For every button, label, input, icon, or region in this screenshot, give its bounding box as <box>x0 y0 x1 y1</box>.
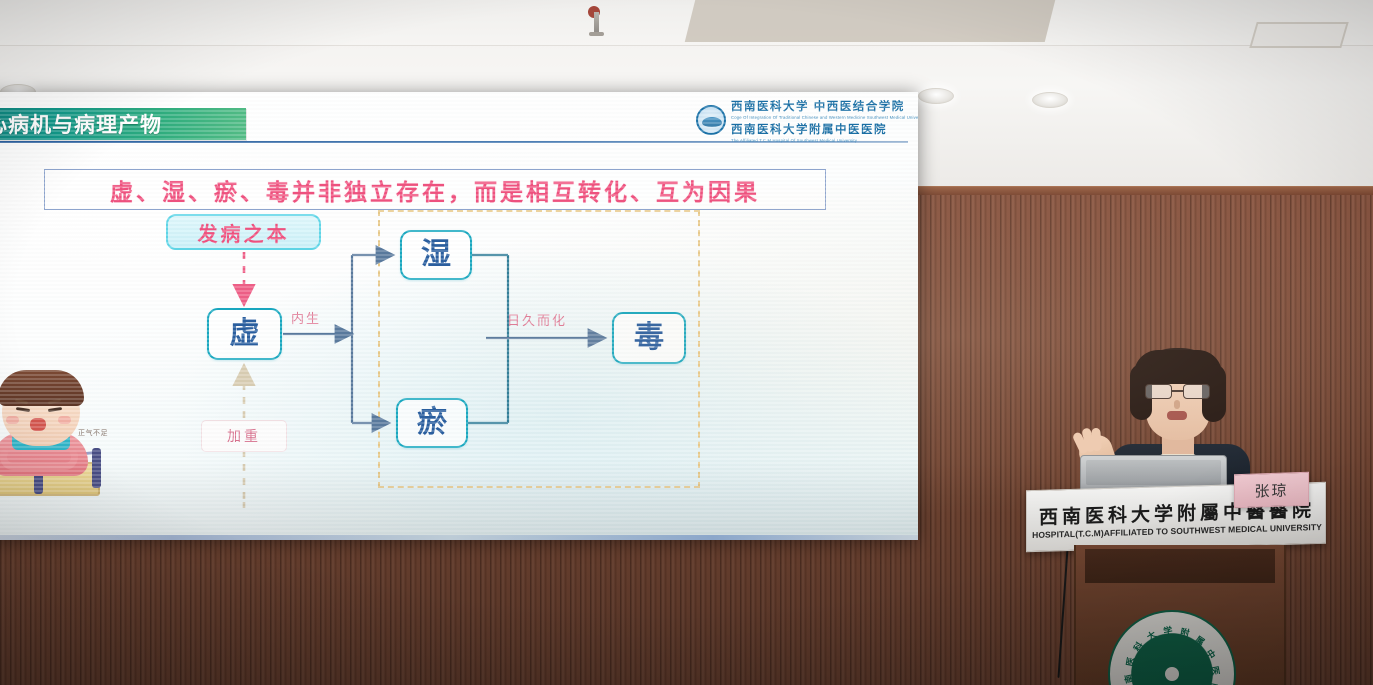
node-du-label: 毒 <box>634 323 664 353</box>
node-yu: 瘀 <box>396 398 468 448</box>
patient-hair <box>0 370 84 406</box>
slide-surface: 核心病机与病理产物 西南医科大学 中西医结合学院 Coge Of Integra… <box>0 92 918 540</box>
sick-patient-illustration: 正气不足 <box>0 370 110 518</box>
speaker-finger <box>1091 428 1102 452</box>
sprinkler-pipe <box>594 12 599 34</box>
patient-mouth <box>30 418 46 431</box>
logo-text-lines: 西南医科大学 中西医结合学院 Coge Of Integration Of Tr… <box>731 98 918 143</box>
downlight-icon <box>918 88 954 104</box>
edge-label-rijiu: 日久而化 <box>507 310 567 329</box>
node-xu: 虚 <box>207 308 282 360</box>
logo-en-line1: Coge Of Integration Of Traditional Chine… <box>731 114 918 120</box>
hospital-logo: 西南医科大学 中西医结合学院 Coge Of Integration Of Tr… <box>692 96 906 144</box>
slide-title-text: 核心病机与病理产物 <box>0 109 162 139</box>
node-yu-label: 瘀 <box>417 408 447 438</box>
slide-title-bar: 核心病机与病理产物 <box>0 108 246 140</box>
patient-cheek <box>58 416 71 424</box>
speaker-nameplate: 张琼 <box>1234 472 1309 509</box>
logo-cn-line2: 西南医科大学附属中医医院 <box>731 121 918 137</box>
node-du: 毒 <box>612 312 686 364</box>
downlight-icon <box>1032 92 1068 108</box>
pathogenesis-diagram: 发病之本 虚 湿 瘀 毒 加重 内生 日久而化 <box>0 202 918 512</box>
cartoon-caption: 正气不足 <box>78 428 108 438</box>
node-origin-label: 发病之本 <box>198 218 290 247</box>
logo-en-line2: The Affiliated T.C.M.Hospital Of Southwe… <box>731 137 918 143</box>
projection-screen: 核心病机与病理产物 西南医科大学 中西医结合学院 Coge Of Integra… <box>0 92 918 540</box>
ceiling-vent <box>1249 22 1348 48</box>
laptop-screen <box>1086 460 1221 485</box>
speaker-nose <box>1174 400 1180 409</box>
lecture-hall-scene: 核心病机与病理产物 西南医科大学 中西医结合学院 Coge Of Integra… <box>0 0 1373 685</box>
ceiling-access-panel <box>685 0 1055 42</box>
node-aggravate: 加重 <box>201 420 287 452</box>
node-shi-label: 湿 <box>421 240 451 270</box>
node-origin: 发病之本 <box>166 214 321 250</box>
bed-post <box>92 448 101 488</box>
podium-shadow-band <box>1085 549 1275 583</box>
node-shi: 湿 <box>400 230 472 280</box>
hospital-seal-icon <box>696 105 726 135</box>
edge-label-neisheng: 内生 <box>291 308 321 327</box>
screen-bottom-edge <box>0 535 918 540</box>
glasses-icon <box>1145 384 1211 399</box>
hospital-emblem-text: 西南医科大学附属中医医院 <box>1108 610 1236 685</box>
node-aggravate-label: 加重 <box>227 426 261 446</box>
logo-cn-line1: 西南医科大学 中西医结合学院 <box>731 98 918 114</box>
node-xu-label: 虚 <box>230 319 260 349</box>
patient-cheek <box>6 416 19 424</box>
speaker-mouth <box>1167 411 1187 420</box>
nameplate-text: 张琼 <box>1254 479 1288 501</box>
